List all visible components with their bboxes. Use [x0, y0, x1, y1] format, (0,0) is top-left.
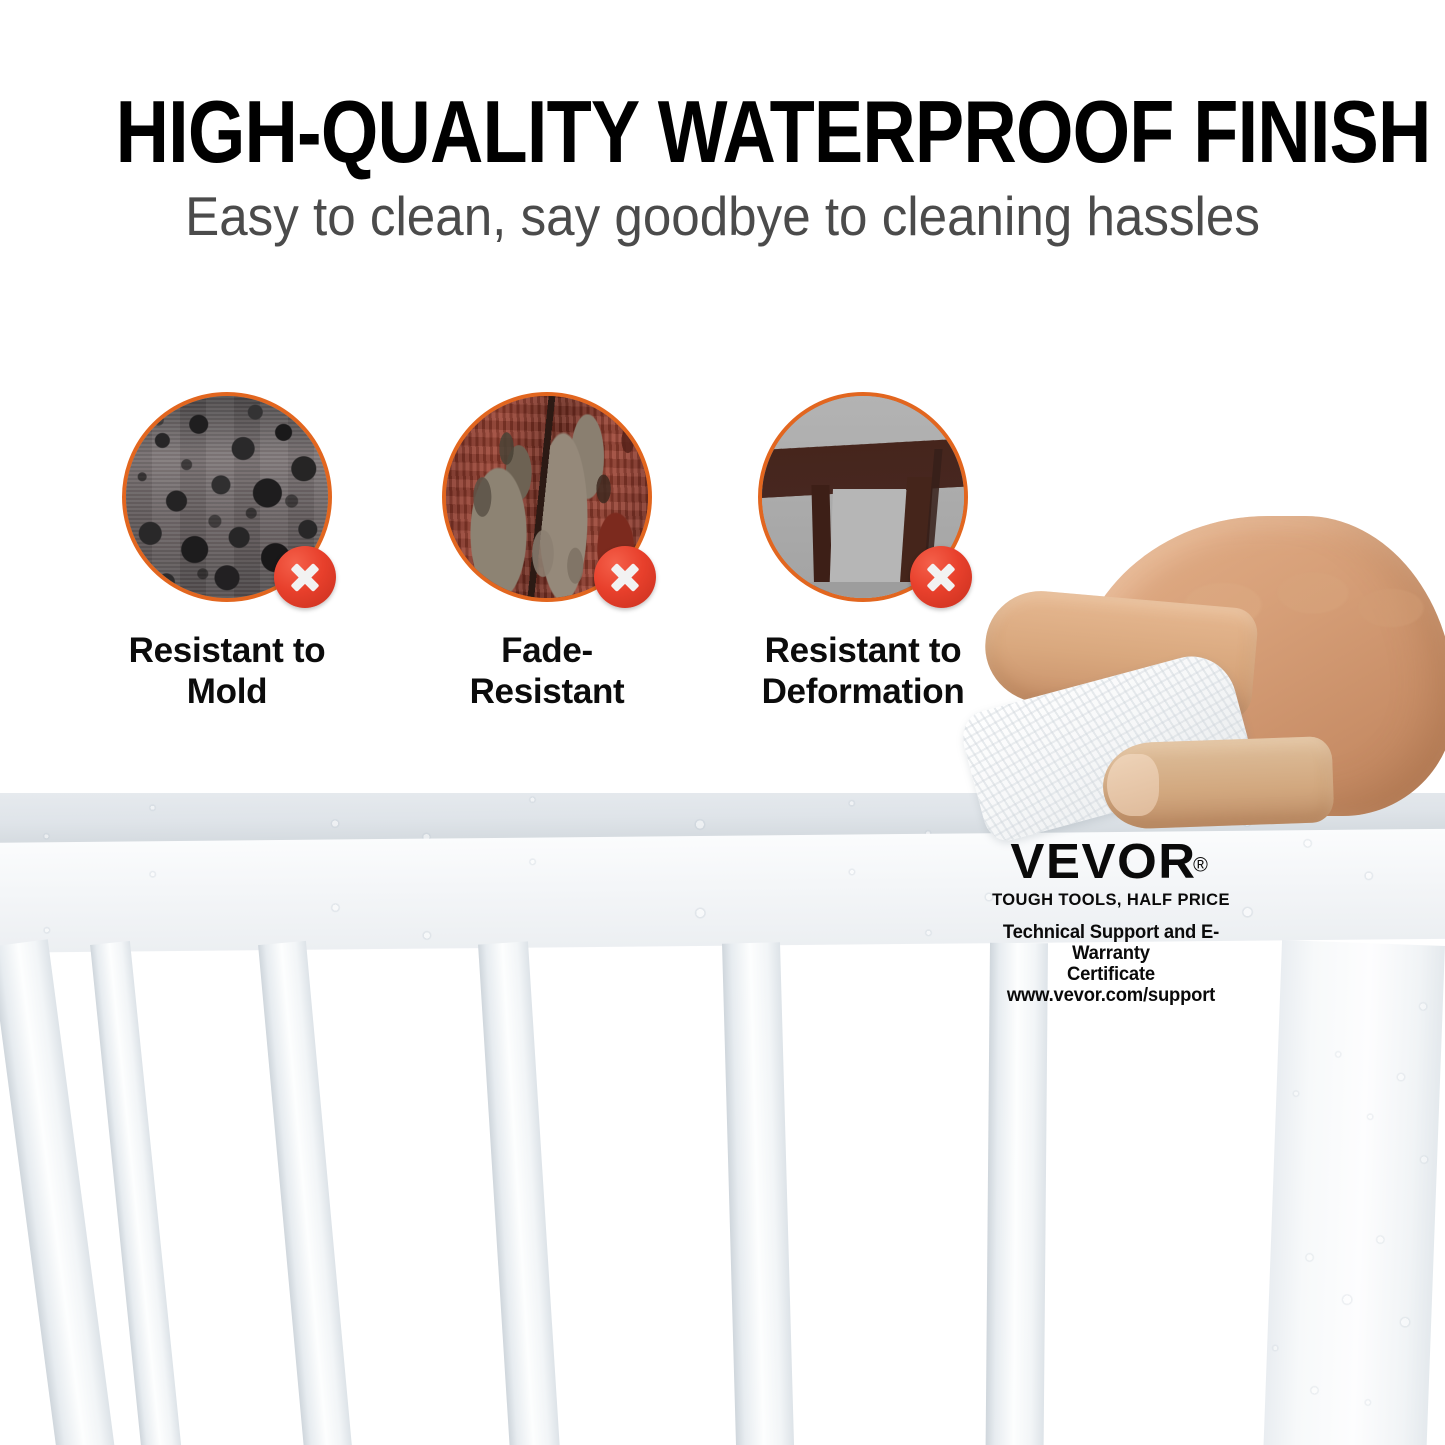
thumb-nail	[1107, 754, 1159, 816]
feature-resistant-to-deformation: Resistant to Deformation	[748, 392, 978, 712]
feature-label-deformation-line2: Deformation	[748, 671, 978, 712]
baluster	[986, 943, 1048, 1445]
water-droplets	[1263, 940, 1445, 1445]
x-mark-badge-icon	[594, 546, 656, 608]
page-subtitle: Easy to clean, say goodbye to cleaning h…	[51, 186, 1395, 246]
feature-label-mold: Resistant to Mold	[112, 630, 342, 712]
hand-wiping-with-cloth	[955, 512, 1445, 842]
baluster	[722, 942, 794, 1445]
feature-image-fade	[442, 392, 652, 602]
brand-block: VEVOR® TOUGH TOOLS, HALF PRICE Technical…	[980, 838, 1242, 1006]
railing-end-post	[1263, 940, 1445, 1445]
feature-fade-resistant: Fade-Resistant	[432, 392, 662, 712]
product-marketing-image: HIGH-QUALITY WATERPROOF FINISH Easy to c…	[0, 0, 1445, 1445]
feature-label-deformation: Resistant to Deformation	[748, 630, 978, 712]
support-line-1: Technical Support and E-Warranty	[984, 922, 1238, 964]
support-info: Technical Support and E-Warranty Certifi…	[984, 922, 1238, 1006]
feature-image-mold	[122, 392, 332, 602]
brand-name: VEVOR	[1011, 838, 1197, 887]
feature-image-deformation	[758, 392, 968, 602]
brand-logo: VEVOR®	[980, 838, 1242, 887]
feature-label-fade: Fade-Resistant	[432, 630, 662, 712]
feature-resistant-to-mold: Resistant to Mold	[112, 392, 342, 712]
support-line-2: Certificate www.vevor.com/support	[984, 964, 1238, 1006]
baluster	[258, 941, 352, 1445]
brand-tagline: TOUGH TOOLS, HALF PRICE	[980, 891, 1242, 909]
baluster	[478, 941, 560, 1445]
page-title: HIGH-QUALITY WATERPROOF FINISH	[116, 88, 1330, 176]
feature-label-deformation-line1: Resistant to	[748, 630, 978, 671]
x-mark-badge-icon	[274, 546, 336, 608]
